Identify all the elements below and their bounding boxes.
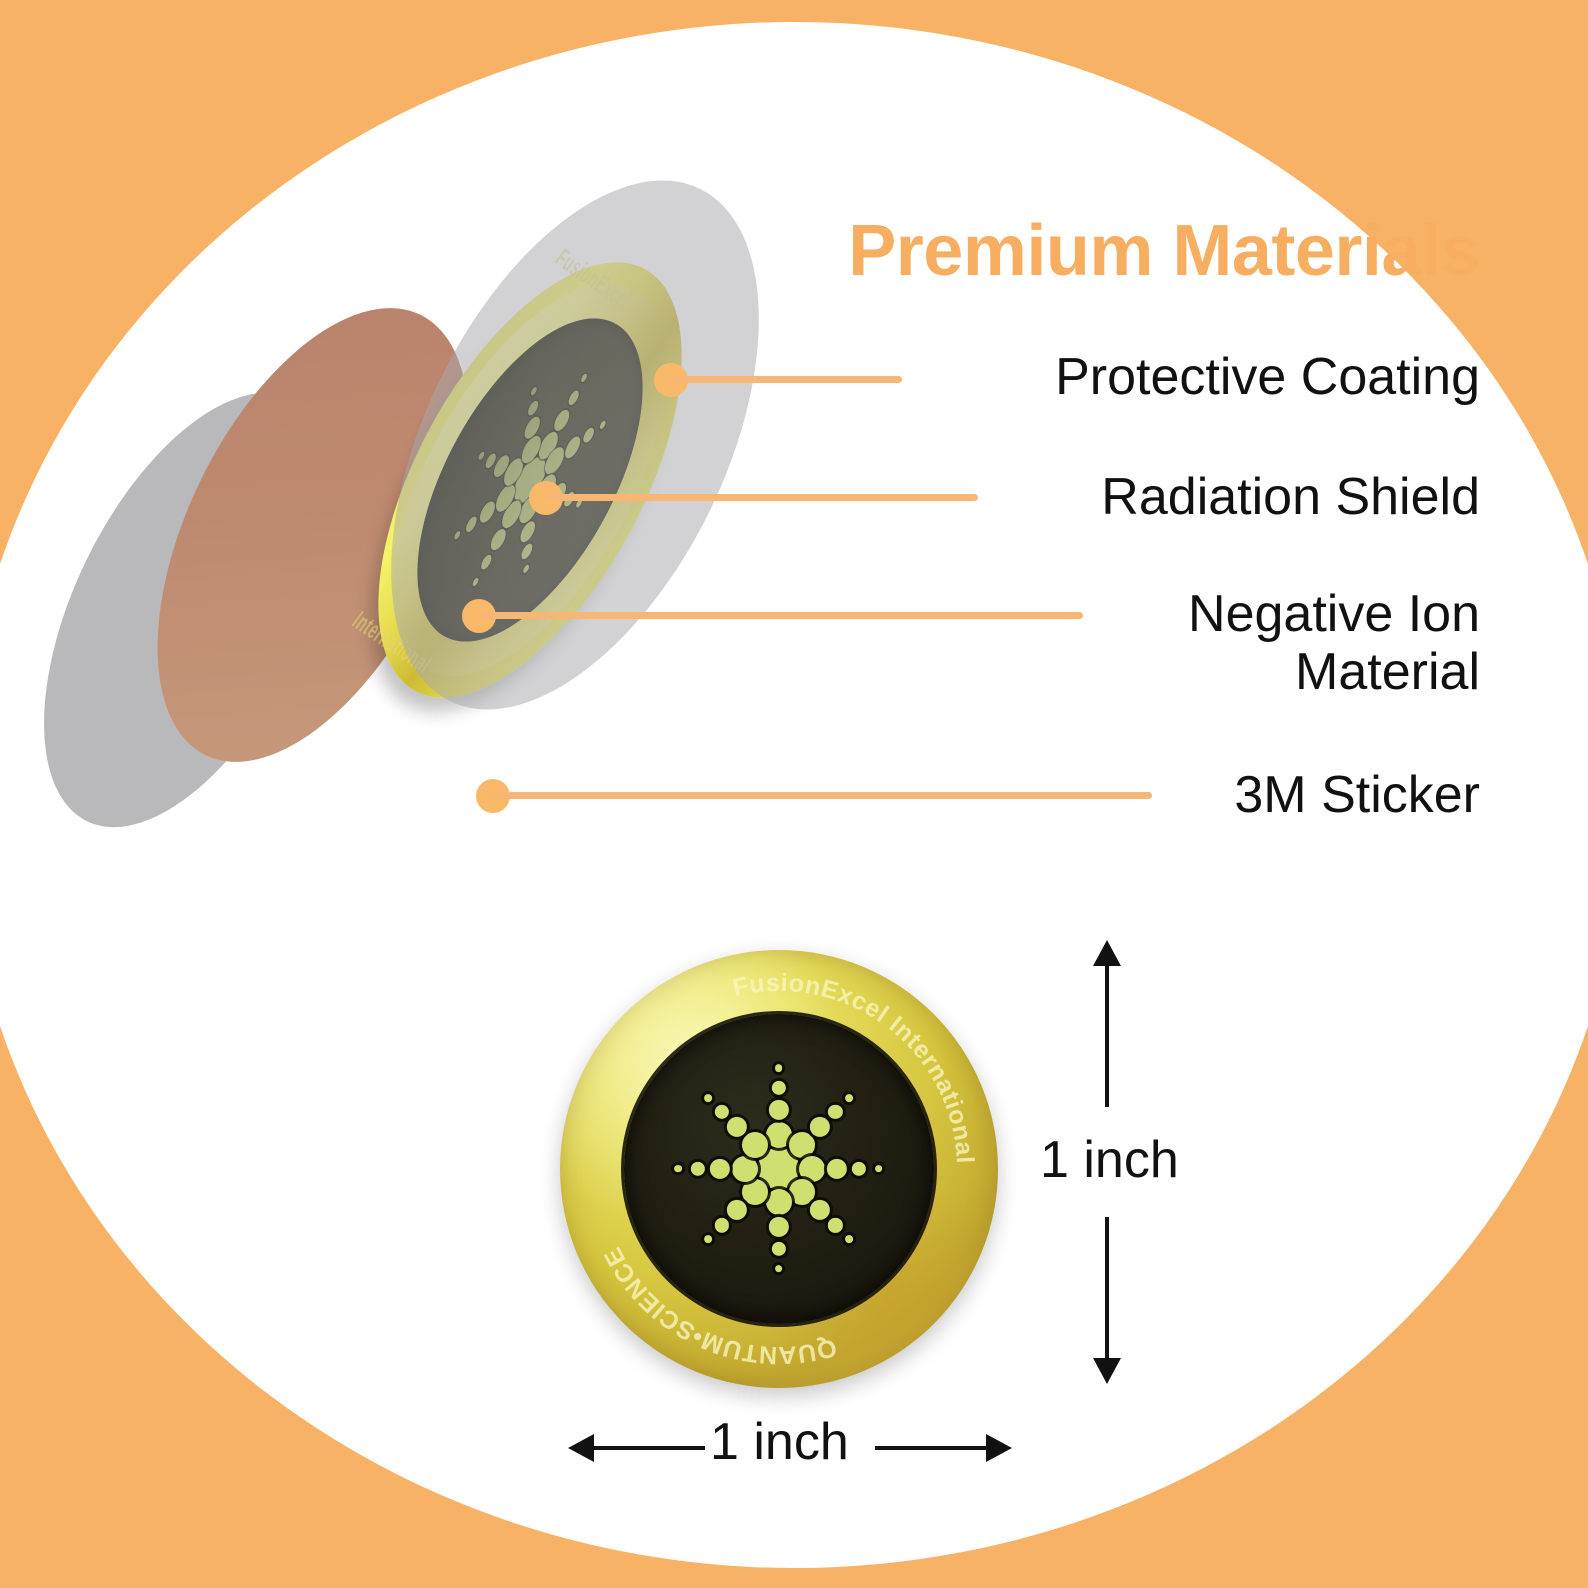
arrow-stem-top xyxy=(1105,952,1109,1107)
pattern-dot xyxy=(710,1158,730,1178)
pattern-dot xyxy=(852,1161,866,1175)
pattern-dot xyxy=(810,1200,830,1220)
arrow-head-right-icon xyxy=(986,1434,1012,1462)
pattern-dot xyxy=(704,1094,712,1102)
pattern-dot xyxy=(704,1235,712,1243)
pattern-dot xyxy=(771,1081,785,1095)
pattern-dot xyxy=(775,1064,783,1072)
callout-label-negative-ion: Negative Ion Material xyxy=(640,585,1480,701)
pattern-dot xyxy=(732,1156,758,1182)
pattern-dot xyxy=(727,1117,747,1137)
product-dark-face xyxy=(624,1014,935,1325)
pattern-dot xyxy=(828,1104,842,1118)
pattern-dot xyxy=(768,1217,788,1237)
pattern-dot xyxy=(810,1117,830,1137)
pattern-dot xyxy=(768,1100,788,1120)
pattern-dot xyxy=(828,1218,842,1232)
pattern-dot xyxy=(845,1094,853,1102)
callout-label-3m-sticker: 3M Sticker xyxy=(640,766,1480,824)
pattern-dot xyxy=(766,1189,792,1215)
pattern-dot xyxy=(845,1235,853,1243)
dimension-label-height: 1 inch xyxy=(1040,1130,1179,1190)
pattern-dot xyxy=(674,1165,682,1173)
arrow-stem-right xyxy=(875,1446,1000,1450)
arrow-stem-bottom xyxy=(1105,1217,1109,1372)
pattern-dot xyxy=(875,1165,883,1173)
pattern-dot xyxy=(799,1156,825,1182)
callout-label-radiation-shield: Radiation Shield xyxy=(640,468,1480,526)
pattern-dot xyxy=(827,1158,847,1178)
pattern-dot xyxy=(727,1200,747,1220)
pattern-dot xyxy=(766,1122,792,1148)
pattern-dot xyxy=(714,1104,728,1118)
arrow-head-down-icon xyxy=(1093,1358,1121,1384)
pattern-dot xyxy=(789,1132,815,1158)
infographic-canvas: Premium Materials FusionExcel Internatio… xyxy=(0,0,1588,1588)
callout-label-protective-coating: Protective Coating xyxy=(640,348,1480,406)
dimension-label-width: 1 inch xyxy=(710,1412,849,1472)
product-disc: FusionExcel International QUANTUM•SCIENC… xyxy=(560,950,998,1388)
pattern-dot xyxy=(714,1218,728,1232)
pattern-dot xyxy=(742,1179,768,1205)
pattern-dot xyxy=(789,1179,815,1205)
arrow-stem-left xyxy=(580,1446,705,1450)
pattern-dot xyxy=(691,1161,705,1175)
pattern-dot xyxy=(771,1242,785,1256)
pattern-dot xyxy=(775,1265,783,1273)
pattern-dot xyxy=(742,1132,768,1158)
